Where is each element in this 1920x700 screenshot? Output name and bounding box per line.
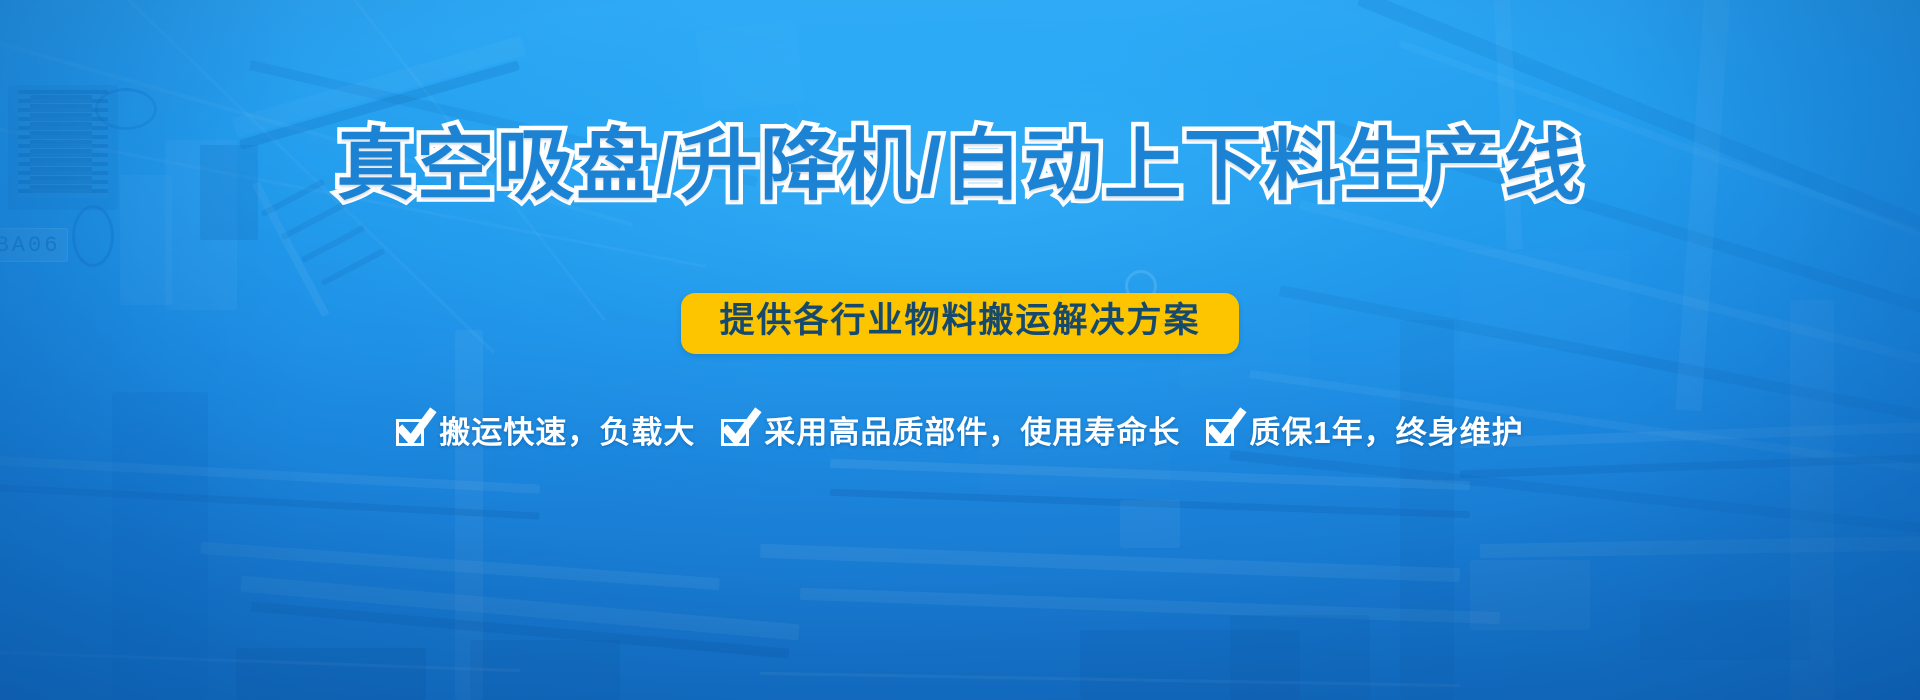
banner-subtitle-badge: 提供各行业物料搬运解决方案 bbox=[681, 293, 1238, 354]
feature-label: 搬运快速，负载大 bbox=[439, 417, 695, 448]
feature-label: 采用高品质部件，使用寿命长 bbox=[764, 417, 1180, 448]
checkbox-checked-icon bbox=[1206, 415, 1240, 449]
checkbox-checked-icon bbox=[396, 415, 430, 449]
hero-banner: BA06 bbox=[0, 0, 1920, 700]
feature-item: 搬运快速，负载大 bbox=[396, 415, 695, 449]
checkbox-checked-icon bbox=[721, 415, 755, 449]
banner-badge-wrapper: 提供各行业物料搬运解决方案 bbox=[0, 293, 1920, 354]
feature-list: 搬运快速，负载大 采用高品质部件，使用寿命长 质保1 bbox=[0, 415, 1920, 449]
banner-headline: 真空吸盘/升降机/自动上下料生产线 bbox=[0, 126, 1920, 204]
feature-item: 质保1年，终身维护 bbox=[1206, 415, 1523, 449]
feature-label: 质保1年，终身维护 bbox=[1249, 417, 1523, 448]
banner-content: 真空吸盘/升降机/自动上下料生产线 提供各行业物料搬运解决方案 搬运快速，负载大 bbox=[0, 0, 1920, 700]
feature-item: 采用高品质部件，使用寿命长 bbox=[721, 415, 1180, 449]
